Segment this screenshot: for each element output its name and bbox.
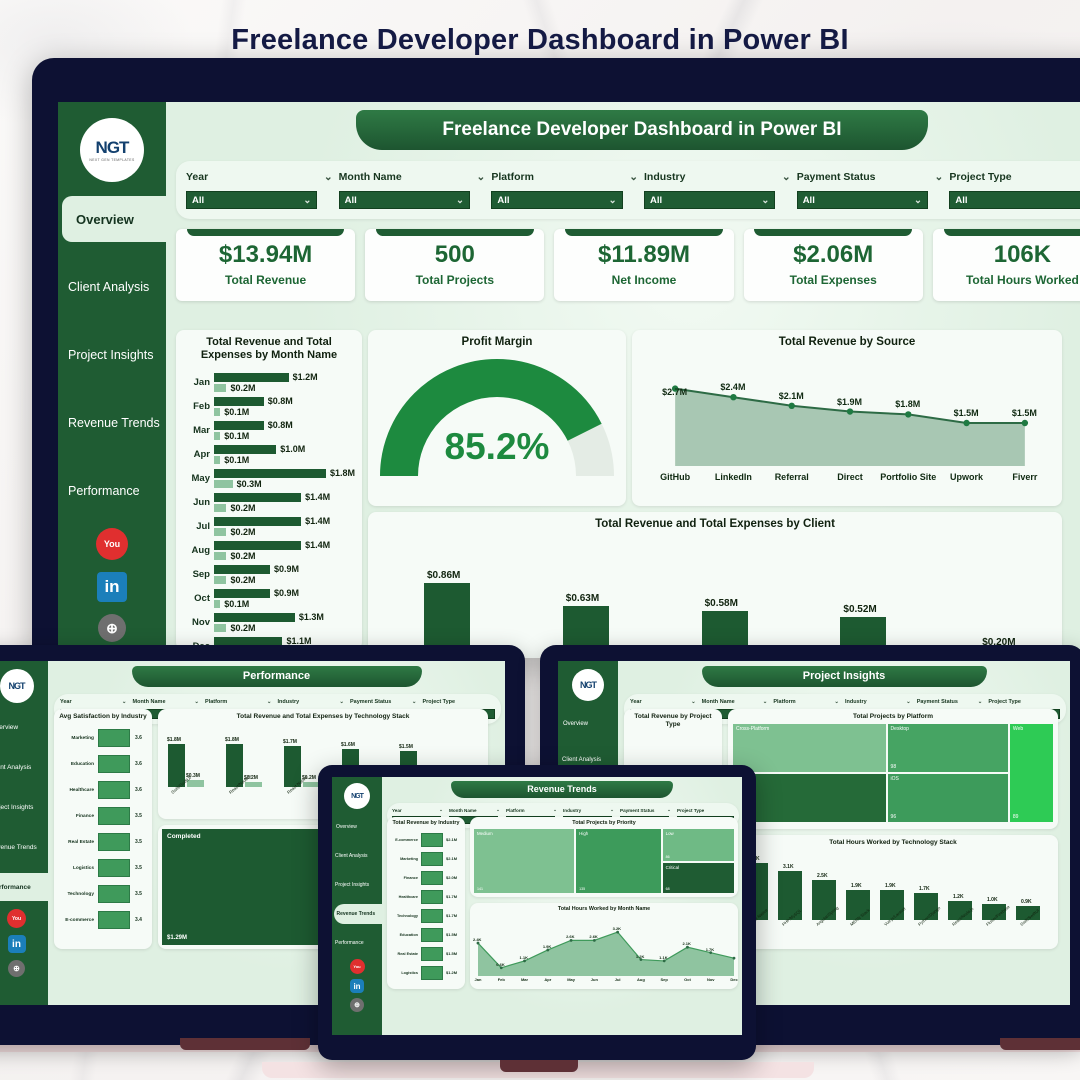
- logo: NGT: [572, 669, 604, 701]
- revenue-value: $1.7M: [446, 913, 457, 918]
- chart-revenue-expenses-by-month[interactable]: Total Revenue and Total Expenses by Mont…: [176, 330, 362, 650]
- kpi-total-expenses[interactable]: $2.06M Total Expenses: [744, 229, 923, 301]
- industry-label: Logistics: [58, 866, 94, 871]
- treemap-cell[interactable]: Web89: [1009, 723, 1054, 823]
- month-bars: Jan$1.2M$0.2MFeb$0.8M$0.1MMar$0.8M$0.1MA…: [182, 370, 356, 650]
- main-laptop-frame: NGT NEXT GEN TEMPLATES Overview Client A…: [32, 58, 1080, 658]
- platform-treemap: Cross-PlatformAndroidDesktop98iOS96Web89: [732, 723, 1054, 823]
- sidebar-item-overview[interactable]: Overview: [0, 713, 48, 741]
- list-item[interactable]: Real Estate$1.5M: [390, 944, 462, 963]
- treemap-label: Low: [666, 831, 674, 836]
- axis-tick-label: LinkedIn: [705, 472, 761, 483]
- bar-expense[interactable]: [214, 528, 226, 536]
- satisfaction-value: 3.5: [135, 891, 142, 897]
- month-bar-group: $1.4M$0.2M: [214, 492, 356, 512]
- gauge: 85.2%: [374, 352, 620, 480]
- filter-label: Industry: [563, 808, 581, 813]
- chevron-down-icon: ⌄: [691, 699, 696, 705]
- chevron-down-icon: ⌄: [477, 171, 486, 183]
- globe-icon[interactable]: ⊕: [8, 960, 25, 977]
- sidebar-item-project-insights[interactable]: Project Insights: [58, 332, 166, 378]
- treemap-cell[interactable]: Cross-Platform: [732, 723, 887, 773]
- bar-revenue[interactable]: [214, 397, 264, 406]
- sidebar-item-label: Project Insights: [68, 348, 153, 362]
- filter-bar: Year⌄ All⌄ Month Name⌄ All⌄ Platform⌄ Al…: [176, 161, 1080, 219]
- chart-projects-by-priority[interactable]: Total Projects by Priority Medium141High…: [470, 817, 738, 897]
- chevron-down-icon: ⌄: [629, 171, 638, 183]
- sidebar-item-revenue-trends[interactable]: Revenue Trends: [0, 833, 48, 861]
- sidebar-item-performance[interactable]: Performance: [0, 873, 50, 901]
- page-title: Freelance Developer Dashboard in Power B…: [0, 24, 1080, 57]
- data-point[interactable]: [546, 949, 549, 952]
- treemap-value: 98: [891, 764, 897, 770]
- logo-main: NGT: [9, 681, 25, 691]
- industry-label: Education: [58, 762, 94, 767]
- chevron-down-icon: ⌄: [761, 195, 769, 206]
- data-label: $0.86M: [427, 570, 460, 581]
- logo-main: NGT: [96, 138, 129, 158]
- filter-label: Year: [186, 171, 208, 183]
- filter-label: Year: [392, 808, 402, 813]
- chevron-down-icon: ⌄: [553, 807, 557, 813]
- industry-label: E-commerce: [390, 838, 418, 842]
- bar-expense[interactable]: [214, 432, 220, 440]
- industry-label: Real Estate: [58, 840, 94, 845]
- chevron-down-icon: ⌄: [267, 699, 272, 705]
- axis-tick-label: Jan: [470, 977, 486, 982]
- treemap-label: High: [579, 831, 588, 836]
- data-label: 2.5K: [817, 873, 828, 879]
- bar-revenue-label: $1.0M: [280, 444, 305, 454]
- month-label: Feb: [182, 401, 210, 412]
- revenue-trends-content: Revenue Trends Year⌄All⌄ Month Name⌄All⌄…: [382, 777, 742, 1035]
- project-insights-laptop-foot: [1000, 1038, 1080, 1050]
- sidebar-item-client-analysis[interactable]: Client Analysis: [332, 846, 382, 866]
- revenue-value: $1.2M: [446, 970, 457, 975]
- satisfaction-value: 3.5: [135, 839, 142, 845]
- list-item[interactable]: Real Estate3.5: [58, 829, 148, 855]
- treemap-value: 86: [666, 855, 670, 859]
- filter-label: Payment Status: [620, 808, 654, 813]
- hours-area-svg: [470, 914, 738, 988]
- bar-expense[interactable]: [214, 552, 226, 560]
- month-bar-group: $0.9M$0.1M: [214, 588, 356, 608]
- filter-label: Industry: [278, 699, 300, 705]
- industry-label: Healthcare: [390, 895, 418, 899]
- data-label: $1.8M: [167, 737, 181, 743]
- bar-revenue[interactable]: [214, 493, 301, 502]
- satisfaction-bar: [98, 781, 130, 799]
- bar-expense[interactable]: [214, 384, 226, 392]
- month-label: Jan: [182, 377, 210, 388]
- chevron-down-icon: ⌄: [667, 807, 671, 813]
- kpi-total-projects[interactable]: 500 Total Projects: [365, 229, 544, 301]
- list-item[interactable]: Finance3.5: [58, 803, 148, 829]
- kpi-label: Net Income: [554, 273, 733, 287]
- treemap-value: 89: [1013, 814, 1019, 820]
- bar-revenue-label: $0.9M: [274, 564, 299, 574]
- kpi-label: Total Projects: [365, 273, 544, 287]
- bar-revenue[interactable]: [214, 589, 270, 598]
- data-label: 1.9K: [543, 944, 551, 949]
- filter-value: All: [803, 195, 815, 206]
- treemap-cell[interactable]: High135: [575, 828, 661, 894]
- industry-label: Education: [390, 933, 418, 937]
- month-bar-group: $1.4M$0.2M: [214, 540, 356, 560]
- data-label: $1.9M: [837, 397, 862, 407]
- bar-revenue[interactable]: [214, 541, 301, 550]
- kpi-label: Total Expenses: [744, 273, 923, 287]
- chart-revenue-expenses-by-client[interactable]: Total Revenue and Total Expenses by Clie…: [368, 512, 1062, 658]
- kpi-total-hours-worked[interactable]: 106K Total Hours Worked: [933, 229, 1080, 301]
- bar-expense[interactable]: [214, 600, 220, 608]
- data-label: 1.7K: [706, 947, 714, 952]
- sidebar-item-client-analysis[interactable]: Client Analysis: [0, 753, 48, 781]
- table-row: Mar$0.8M$0.1M: [182, 418, 356, 442]
- linkedin-icon[interactable]: in: [350, 979, 364, 993]
- axis-tick-label: Jun: [586, 977, 602, 982]
- list-item[interactable]: Education3.6: [58, 751, 148, 777]
- data-point[interactable]: [616, 931, 619, 934]
- month-bar-group: $1.8M$0.3M: [214, 468, 356, 488]
- data-point[interactable]: [730, 394, 736, 400]
- globe-glyph: ⊕: [354, 1001, 360, 1009]
- month-label: Aug: [182, 545, 210, 556]
- data-point[interactable]: [789, 403, 795, 409]
- chart-title: Total Revenue and Total Expenses by Clie…: [374, 518, 1056, 530]
- revenue-trends-banner: Revenue Trends: [451, 781, 673, 798]
- sidebar: NGT NEXT GEN TEMPLATES Overview Client A…: [58, 102, 166, 658]
- filter-label: Platform: [773, 699, 795, 705]
- filter-label: Payment Status: [797, 171, 876, 183]
- linkedin-glyph: in: [104, 577, 119, 597]
- axis-tick-label: Fiverr: [997, 472, 1053, 483]
- month-label: May: [182, 473, 210, 484]
- kpi-value: 106K: [933, 241, 1080, 269]
- filter-industry[interactable]: Industry⌄ All⌄: [644, 171, 797, 209]
- chart-hours-by-technology-stack[interactable]: Total Hours Worked by Technology Stack 3…: [728, 835, 1058, 949]
- globe-icon[interactable]: ⊕: [350, 998, 364, 1012]
- treemap-label: Cross-Platform: [736, 726, 769, 732]
- revenue-trends-screen: NGT Overview Client Analysis Project Ins…: [332, 777, 742, 1035]
- sidebar-item-client-analysis[interactable]: Client Analysis: [58, 264, 166, 310]
- sidebar-item-revenue-trends[interactable]: Revenue Trends: [334, 904, 384, 924]
- bar-revenue[interactable]: [214, 517, 301, 526]
- filter-project-type[interactable]: Project Type All: [949, 171, 1080, 209]
- data-label: 1.7K: [919, 886, 930, 892]
- satisfaction-value: 3.4: [135, 917, 142, 923]
- data-label: $0.63M: [566, 593, 599, 604]
- data-point[interactable]: [523, 960, 526, 963]
- data-point[interactable]: [593, 939, 596, 942]
- industry-label: Marketing: [58, 736, 94, 741]
- bar-revenue[interactable]: [214, 565, 270, 574]
- chart-title: Total Revenue by Project Type: [628, 713, 718, 729]
- data-point[interactable]: [963, 420, 969, 426]
- list-item[interactable]: Finance$2.0M: [390, 868, 462, 887]
- data-point[interactable]: [663, 960, 666, 963]
- sidebar-item-label: Revenue Trends: [68, 416, 160, 430]
- axis-tick-label: Nov: [703, 977, 719, 982]
- bar-revenue[interactable]: [214, 421, 264, 430]
- list-item[interactable]: Technology$1.7M: [390, 906, 462, 925]
- data-point[interactable]: [640, 958, 643, 961]
- data-label: $1.7M: [283, 739, 297, 745]
- treemap-label: Medium: [477, 831, 493, 836]
- sidebar-item-label: Project Insights: [335, 882, 369, 888]
- axis-tick-label: Jul: [610, 977, 626, 982]
- bar-expense[interactable]: [214, 480, 233, 488]
- chevron-down-icon: ⌄: [339, 699, 344, 705]
- axis-tick-label: Direct: [822, 472, 878, 483]
- bar-expense[interactable]: [214, 456, 220, 464]
- revenue-trends-dashboard: NGT Overview Client Analysis Project Ins…: [332, 777, 742, 1035]
- axis-tick-label: Apr: [540, 977, 556, 982]
- sidebar-item-performance[interactable]: Performance: [58, 468, 166, 514]
- revenue-value: $1.7M: [446, 894, 457, 899]
- bar-expense-label: $0.2M: [230, 551, 255, 561]
- list-item[interactable]: Marketing3.6: [58, 725, 148, 751]
- bar-revenue[interactable]: [214, 469, 326, 478]
- chevron-down-icon: ⌄: [935, 171, 944, 183]
- axis-tick-label: Mar: [517, 977, 533, 982]
- industry-label: Finance: [58, 814, 94, 819]
- data-label: 2.6K: [566, 934, 574, 939]
- filter-label: Platform: [491, 171, 534, 183]
- axis-tick-label: Feb: [493, 977, 509, 982]
- performance-banner-text: Performance: [243, 670, 310, 682]
- chevron-down-icon: ⌄: [763, 699, 768, 705]
- list-item[interactable]: E-commerce3.4: [58, 907, 148, 933]
- data-point[interactable]: [709, 951, 712, 954]
- revenue-bar: [421, 928, 443, 942]
- month-label: Jun: [182, 497, 210, 508]
- sidebar-item-label: Overview: [563, 721, 588, 727]
- data-point[interactable]: [477, 942, 480, 945]
- bar-expense-label: $0.3M: [237, 479, 262, 489]
- kpi-label: Total Hours Worked: [933, 273, 1080, 287]
- month-bar-group: $0.8M$0.1M: [214, 396, 356, 416]
- chevron-down-icon: ⌄: [412, 699, 417, 705]
- linkedin-icon[interactable]: in: [8, 935, 26, 953]
- data-point[interactable]: [847, 408, 853, 414]
- youtube-icon[interactable]: You: [7, 909, 26, 928]
- chart-avg-satisfaction-by-industry[interactable]: Avg Satisfaction by Industry Marketing3.…: [54, 709, 152, 949]
- revenue-value: $1.5M: [446, 932, 457, 937]
- revenue-bar: [421, 871, 443, 885]
- sidebar: NGT Overview Client Analysis Project Ins…: [332, 777, 382, 1035]
- satisfaction-list: Marketing3.6Education3.6Healthcare3.6Fin…: [58, 725, 148, 933]
- satisfaction-bar: [98, 833, 130, 851]
- sidebar-item-label: Client Analysis: [0, 764, 31, 771]
- sidebar-item-label: Performance: [68, 484, 140, 498]
- data-point[interactable]: [1022, 420, 1028, 426]
- bar-revenue[interactable]: [214, 373, 289, 382]
- sidebar-item-project-insights[interactable]: Project Insights: [332, 875, 382, 895]
- list-item[interactable]: E-commerce$2.1M: [390, 830, 462, 849]
- bar-revenue[interactable]: [214, 613, 295, 622]
- data-point[interactable]: [500, 966, 503, 969]
- sidebar-item-label: Performance: [0, 884, 31, 891]
- revenue-bar: [421, 909, 443, 923]
- bar-expense[interactable]: [214, 408, 220, 416]
- treemap-cell[interactable]: Desktop98: [887, 723, 1009, 773]
- filter-platform[interactable]: Platform⌄ All⌄: [491, 171, 644, 209]
- revenue-bar: [421, 833, 443, 847]
- bar-revenue[interactable]: [214, 445, 276, 454]
- bar-expense[interactable]: [245, 782, 262, 787]
- industry-label: Healthcare: [58, 788, 94, 793]
- chart-title: Total Hours Worked by Month Name: [473, 906, 735, 912]
- chevron-down-icon: ⌄: [609, 195, 617, 206]
- list-item[interactable]: Logistics3.5: [58, 855, 148, 881]
- treemap-cell[interactable]: Medium141: [473, 828, 575, 894]
- bar-expense[interactable]: [214, 504, 226, 512]
- bar-expense[interactable]: [214, 576, 226, 584]
- completed-label: Completed: [167, 833, 201, 840]
- filter-value: All: [650, 195, 662, 206]
- globe-glyph: ⊕: [106, 620, 118, 637]
- bar-revenue-label: $1.4M: [305, 492, 330, 502]
- treemap-label: Critical: [666, 865, 679, 870]
- bar-expense-label: $0.2M: [230, 383, 255, 393]
- revenue-trends-banner-text: Revenue Trends: [527, 784, 597, 794]
- list-item[interactable]: Logistics$1.2M: [390, 963, 462, 982]
- industry-label: Marketing: [390, 857, 418, 861]
- linkedin-icon[interactable]: in: [97, 572, 127, 602]
- completed-value: $1.29M: [167, 935, 187, 941]
- filter-value: All: [497, 195, 509, 206]
- industry-list: E-commerce$2.1MMarketing$2.1MFinance$2.0…: [390, 830, 462, 982]
- filter-year[interactable]: Year⌄ All⌄: [186, 171, 339, 209]
- bar-expense[interactable]: [214, 624, 226, 632]
- list-item[interactable]: Education$1.5M: [390, 925, 462, 944]
- kpi-value: $11.89M: [554, 241, 733, 269]
- month-label: Sep: [182, 569, 210, 580]
- filter-value: All: [192, 195, 204, 206]
- kpi-label: Total Revenue: [176, 273, 355, 287]
- filter-payment-status[interactable]: Payment Status⌄ All⌄: [797, 171, 950, 209]
- chevron-down-icon: ⌄: [834, 699, 839, 705]
- treemap-value: 135: [579, 887, 585, 891]
- sidebar-item-project-insights[interactable]: Project Insights: [0, 793, 48, 821]
- logo: NGT NEXT GEN TEMPLATES: [80, 118, 144, 182]
- globe-glyph: ⊕: [13, 964, 20, 973]
- sidebar-item-overview[interactable]: Overview: [62, 196, 170, 242]
- filter-label: Payment Status: [350, 699, 391, 705]
- youtube-icon[interactable]: You: [96, 528, 128, 560]
- filter-label: Industry: [845, 699, 867, 705]
- bar-revenue-label: $1.2M: [293, 372, 318, 382]
- data-point[interactable]: [686, 946, 689, 949]
- data-label: 1.9K: [885, 883, 896, 889]
- chevron-down-icon: ⌄: [303, 195, 311, 206]
- bar-expense-label: $0.2M: [230, 623, 255, 633]
- sidebar-item-label: Overview: [0, 724, 18, 731]
- sidebar-item-overview[interactable]: Overview: [332, 817, 382, 837]
- table-row: Apr$1.0M$0.1M: [182, 442, 356, 466]
- sidebar-item-revenue-trends[interactable]: Revenue Trends: [58, 400, 166, 446]
- satisfaction-value: 3.5: [135, 865, 142, 871]
- data-label: 3.1K: [783, 864, 794, 870]
- data-label: 1.1K: [659, 955, 667, 960]
- data-label: $2.4M: [720, 382, 745, 392]
- filter-label: Year: [630, 699, 642, 705]
- sidebar-item-label: Revenue Trends: [337, 911, 376, 917]
- chevron-down-icon: ⌄: [610, 807, 614, 813]
- sidebar-item-label: Performance: [335, 940, 364, 946]
- chevron-down-icon: ⌄: [978, 699, 983, 705]
- list-item[interactable]: Marketing$2.1M: [390, 849, 462, 868]
- data-point[interactable]: [570, 939, 573, 942]
- bar-revenue-label: $1.8M: [330, 468, 355, 478]
- filter-label: Project Type: [988, 699, 1021, 705]
- month-bar-group: $1.2M$0.2M: [214, 372, 356, 392]
- chart-profit-margin[interactable]: Profit Margin 85.2%: [368, 330, 626, 506]
- globe-icon[interactable]: ⊕: [98, 614, 126, 642]
- chevron-down-icon: ⌄: [439, 807, 443, 813]
- treemap-cell[interactable]: Low86: [662, 828, 735, 862]
- treemap-cell[interactable]: iOS96: [887, 773, 1009, 823]
- treemap-label: Web: [1013, 726, 1023, 732]
- axis-tick-label: Portfolio Site: [880, 472, 936, 483]
- satisfaction-bar: [98, 755, 130, 773]
- kpi-value: $2.06M: [744, 241, 923, 269]
- kpi-total-revenue[interactable]: $13.94M Total Revenue: [176, 229, 355, 301]
- satisfaction-value: 3.6: [135, 787, 142, 793]
- list-item[interactable]: Healthcare$1.7M: [390, 887, 462, 906]
- youtube-icon[interactable]: You: [350, 959, 365, 974]
- logo-main: NGT: [351, 793, 363, 800]
- month-bar-group: $1.3M$0.2M: [214, 612, 356, 632]
- sidebar-item-label: Project Insights: [0, 804, 33, 811]
- gauge-value: 85.2%: [374, 426, 620, 468]
- data-point[interactable]: [905, 411, 911, 417]
- table-row: Jun$1.4M$0.2M: [182, 490, 356, 514]
- sidebar-item-label: Client Analysis: [68, 280, 149, 294]
- sidebar-item-overview[interactable]: Overview: [558, 711, 618, 737]
- chart-revenue-by-industry[interactable]: Total Revenue by Industry E-commerce$2.1…: [387, 817, 465, 989]
- data-label: 1.0K: [987, 897, 998, 903]
- treemap-value: 68: [666, 887, 670, 891]
- treemap-cell[interactable]: Critical68: [662, 862, 735, 894]
- list-item[interactable]: Technology3.5: [58, 881, 148, 907]
- data-label: 1.9K: [851, 883, 862, 889]
- youtube-glyph: You: [104, 539, 120, 549]
- performance-laptop-foot: [180, 1038, 310, 1050]
- filter-month-name[interactable]: Month Name⌄ All⌄: [339, 171, 492, 209]
- kpi-net-income[interactable]: $11.89M Net Income: [554, 229, 733, 301]
- chart-revenue-by-source[interactable]: Total Revenue by Source $2.7MGitHub$2.4M…: [632, 330, 1062, 506]
- data-point[interactable]: [733, 957, 736, 960]
- performance-banner: Performance: [132, 666, 422, 687]
- chart-total-projects-by-platform[interactable]: Total Projects by Platform Cross-Platfor…: [728, 709, 1058, 829]
- list-item[interactable]: Healthcare3.6: [58, 777, 148, 803]
- client-chart: $0.86M$0.12M$0.63M$0.09M$0.58M$0.07M$0.5…: [368, 534, 1062, 658]
- overview-screen: NGT NEXT GEN TEMPLATES Overview Client A…: [58, 102, 1080, 658]
- chevron-down-icon: ⌄: [496, 807, 500, 813]
- chart-hours-by-month[interactable]: Total Hours Worked by Month Name 2.4KJan…: [470, 903, 738, 989]
- revenue-bar: [421, 966, 443, 980]
- revenue-value: $1.5M: [446, 951, 457, 956]
- bar-expense-label: $0.2M: [230, 527, 255, 537]
- bar-expense-label: $0.1M: [224, 599, 249, 609]
- chevron-down-icon: ⌄: [906, 699, 911, 705]
- bar-revenue-label: $1.3M: [299, 612, 324, 622]
- data-label: 1.1K: [520, 955, 528, 960]
- revenue-trends-laptop-foot: [500, 1060, 578, 1072]
- sidebar-item-performance[interactable]: Performance: [332, 933, 382, 953]
